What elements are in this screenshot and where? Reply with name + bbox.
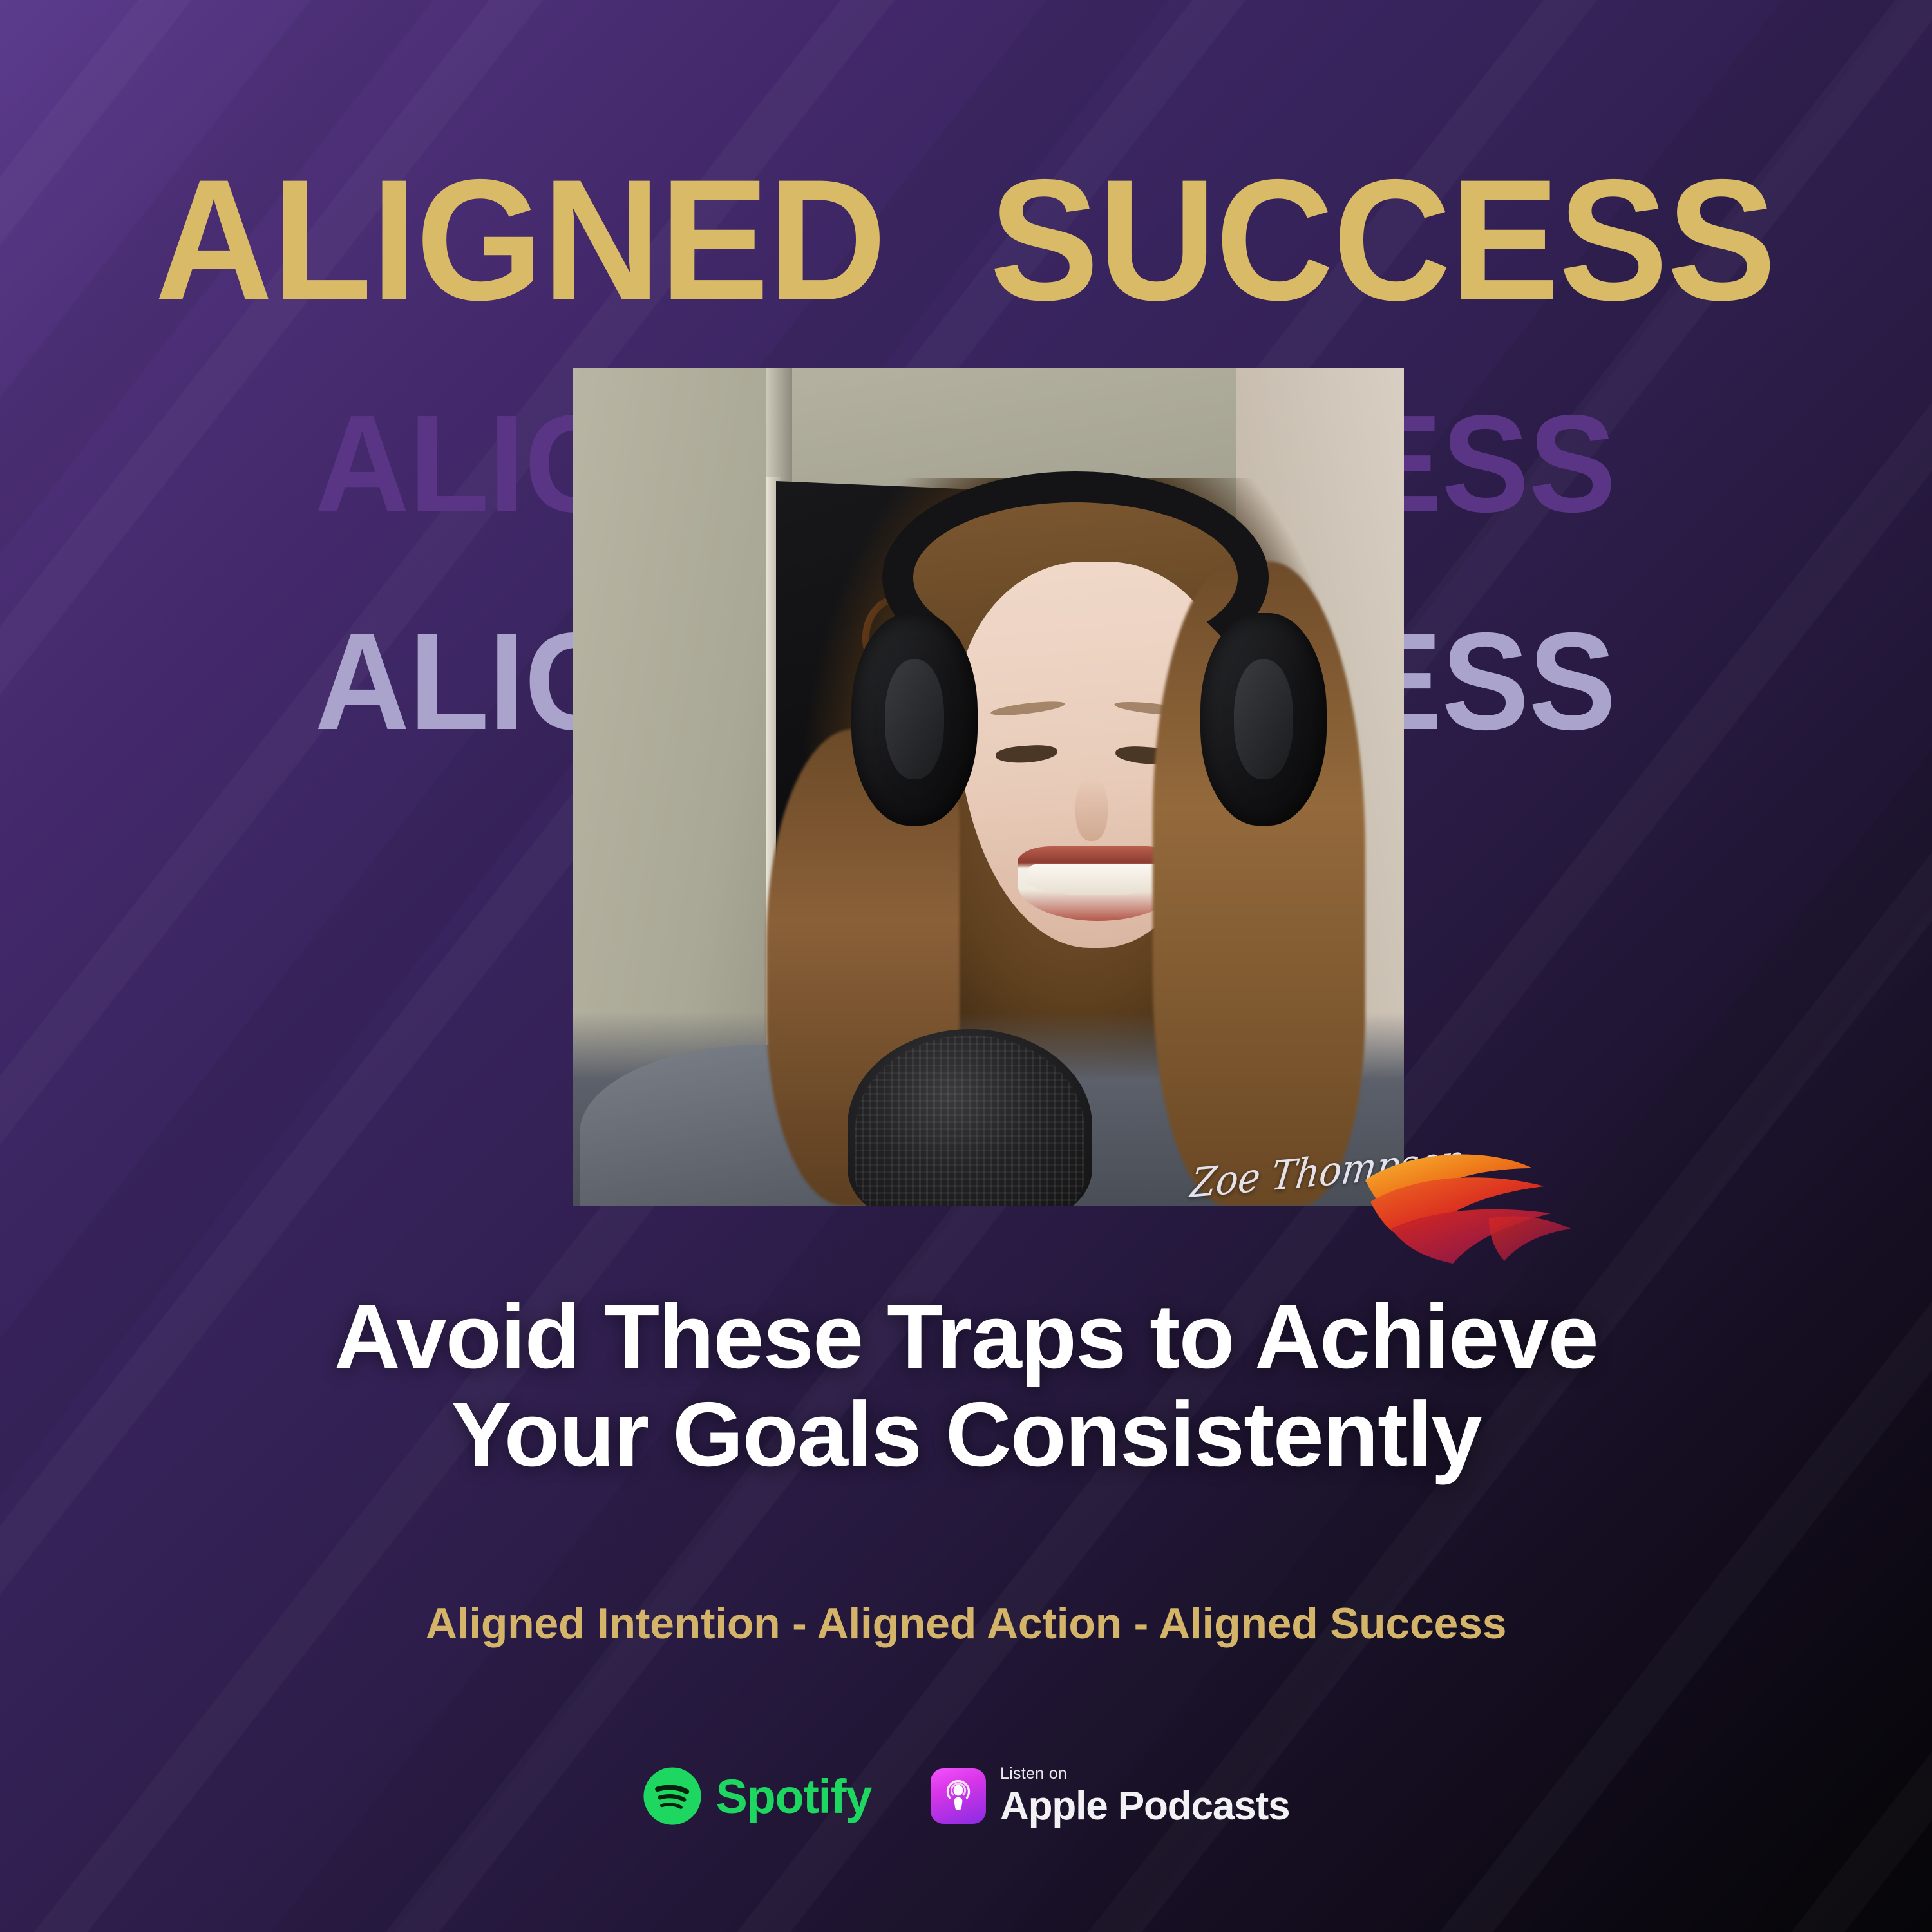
episode-title-line-1: Avoid These Traps to Achieve (334, 1285, 1598, 1388)
spotify-icon (643, 1766, 702, 1826)
host-signature-block: Zoe Thompson (1179, 1133, 1578, 1269)
spotify-badge[interactable]: Spotify (643, 1766, 871, 1826)
platform-badges: Spotify Listen on Apple Podcasts (0, 1766, 1932, 1826)
headphones-earcup-left (851, 613, 978, 826)
episode-title: Avoid These Traps to Achieve Your Goals … (116, 1288, 1816, 1484)
phoenix-wing-logo-icon (1351, 1146, 1583, 1269)
episode-title-line-2: Your Goals Consistently (451, 1383, 1481, 1486)
apple-podcasts-icon (931, 1768, 986, 1824)
photo-teeth (1028, 864, 1168, 895)
podcast-tagline: Aligned Intention - Aligned Action - Ali… (0, 1598, 1932, 1649)
apple-podcasts-label: Apple Podcasts (1000, 1786, 1290, 1826)
headphones-earcup-right (1200, 613, 1327, 826)
podcast-title-word-success: SUCCESS (990, 153, 1776, 326)
host-photo (573, 368, 1404, 1206)
photo-nose (1075, 778, 1108, 841)
podcast-title: ALIGNEDSUCCESS (0, 153, 1932, 326)
apple-podcasts-prefix: Listen on (1000, 1766, 1290, 1782)
apple-podcasts-badge[interactable]: Listen on Apple Podcasts (931, 1766, 1290, 1826)
spotify-label: Spotify (716, 1769, 871, 1824)
podcast-cover-art: ALIGNEDSUCCESS ALIGNEDSUCCESS ALIGNEDSUC… (0, 0, 1932, 1932)
podcast-title-word-aligned: ALIGNED (155, 153, 885, 326)
